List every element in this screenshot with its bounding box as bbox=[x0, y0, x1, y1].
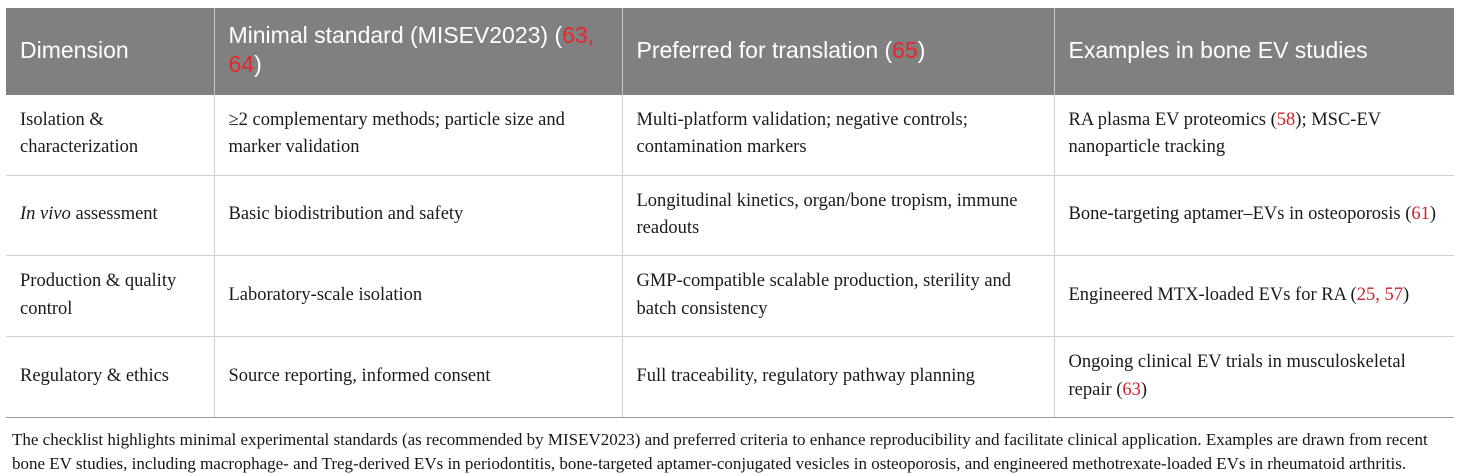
table-header: Dimension Minimal standard (MISEV2023) (… bbox=[6, 8, 1454, 95]
cell-dimension: In vivo assessment bbox=[6, 175, 214, 256]
column-header-preferred-translation: Preferred for translation (65) bbox=[622, 8, 1054, 95]
table-row: Isolation & characterization ≥2 compleme… bbox=[6, 95, 1454, 175]
table-figure: Dimension Minimal standard (MISEV2023) (… bbox=[0, 0, 1460, 474]
column-header-minimal-standard: Minimal standard (MISEV2023) (63, 64) bbox=[214, 8, 622, 95]
cell-preferred-translation: GMP-compatible scalable production, ster… bbox=[622, 256, 1054, 337]
column-header-dimension: Dimension bbox=[6, 8, 214, 95]
table-row: In vivo assessment Basic biodistribution… bbox=[6, 175, 1454, 256]
table-caption: The checklist highlights minimal experim… bbox=[6, 428, 1454, 476]
cell-minimal-standard: Source reporting, informed consent bbox=[214, 337, 622, 418]
misev-checklist-table: Dimension Minimal standard (MISEV2023) (… bbox=[6, 8, 1454, 418]
cell-minimal-standard: Basic biodistribution and safety bbox=[214, 175, 622, 256]
column-header-examples-bone-ev: Examples in bone EV studies bbox=[1054, 8, 1454, 95]
cell-examples-bone-ev: Engineered MTX-loaded EVs for RA (25, 57… bbox=[1054, 256, 1454, 337]
table-body: Isolation & characterization ≥2 compleme… bbox=[6, 95, 1454, 418]
cell-examples-bone-ev: RA plasma EV proteomics (58); MSC-EV nan… bbox=[1054, 95, 1454, 175]
cell-minimal-standard: ≥2 complementary methods; particle size … bbox=[214, 95, 622, 175]
cell-examples-bone-ev: Bone-targeting aptamer–EVs in osteoporos… bbox=[1054, 175, 1454, 256]
table-row: Regulatory & ethics Source reporting, in… bbox=[6, 337, 1454, 418]
cell-preferred-translation: Full traceability, regulatory pathway pl… bbox=[622, 337, 1054, 418]
cell-dimension: Regulatory & ethics bbox=[6, 337, 214, 418]
cell-preferred-translation: Multi-platform validation; negative cont… bbox=[622, 95, 1054, 175]
cell-minimal-standard: Laboratory-scale isolation bbox=[214, 256, 622, 337]
cell-examples-bone-ev: Ongoing clinical EV trials in musculoske… bbox=[1054, 337, 1454, 418]
header-row: Dimension Minimal standard (MISEV2023) (… bbox=[6, 8, 1454, 95]
table-row: Production & quality control Laboratory-… bbox=[6, 256, 1454, 337]
cell-dimension: Production & quality control bbox=[6, 256, 214, 337]
cell-preferred-translation: Longitudinal kinetics, organ/bone tropis… bbox=[622, 175, 1054, 256]
cell-dimension: Isolation & characterization bbox=[6, 95, 214, 175]
